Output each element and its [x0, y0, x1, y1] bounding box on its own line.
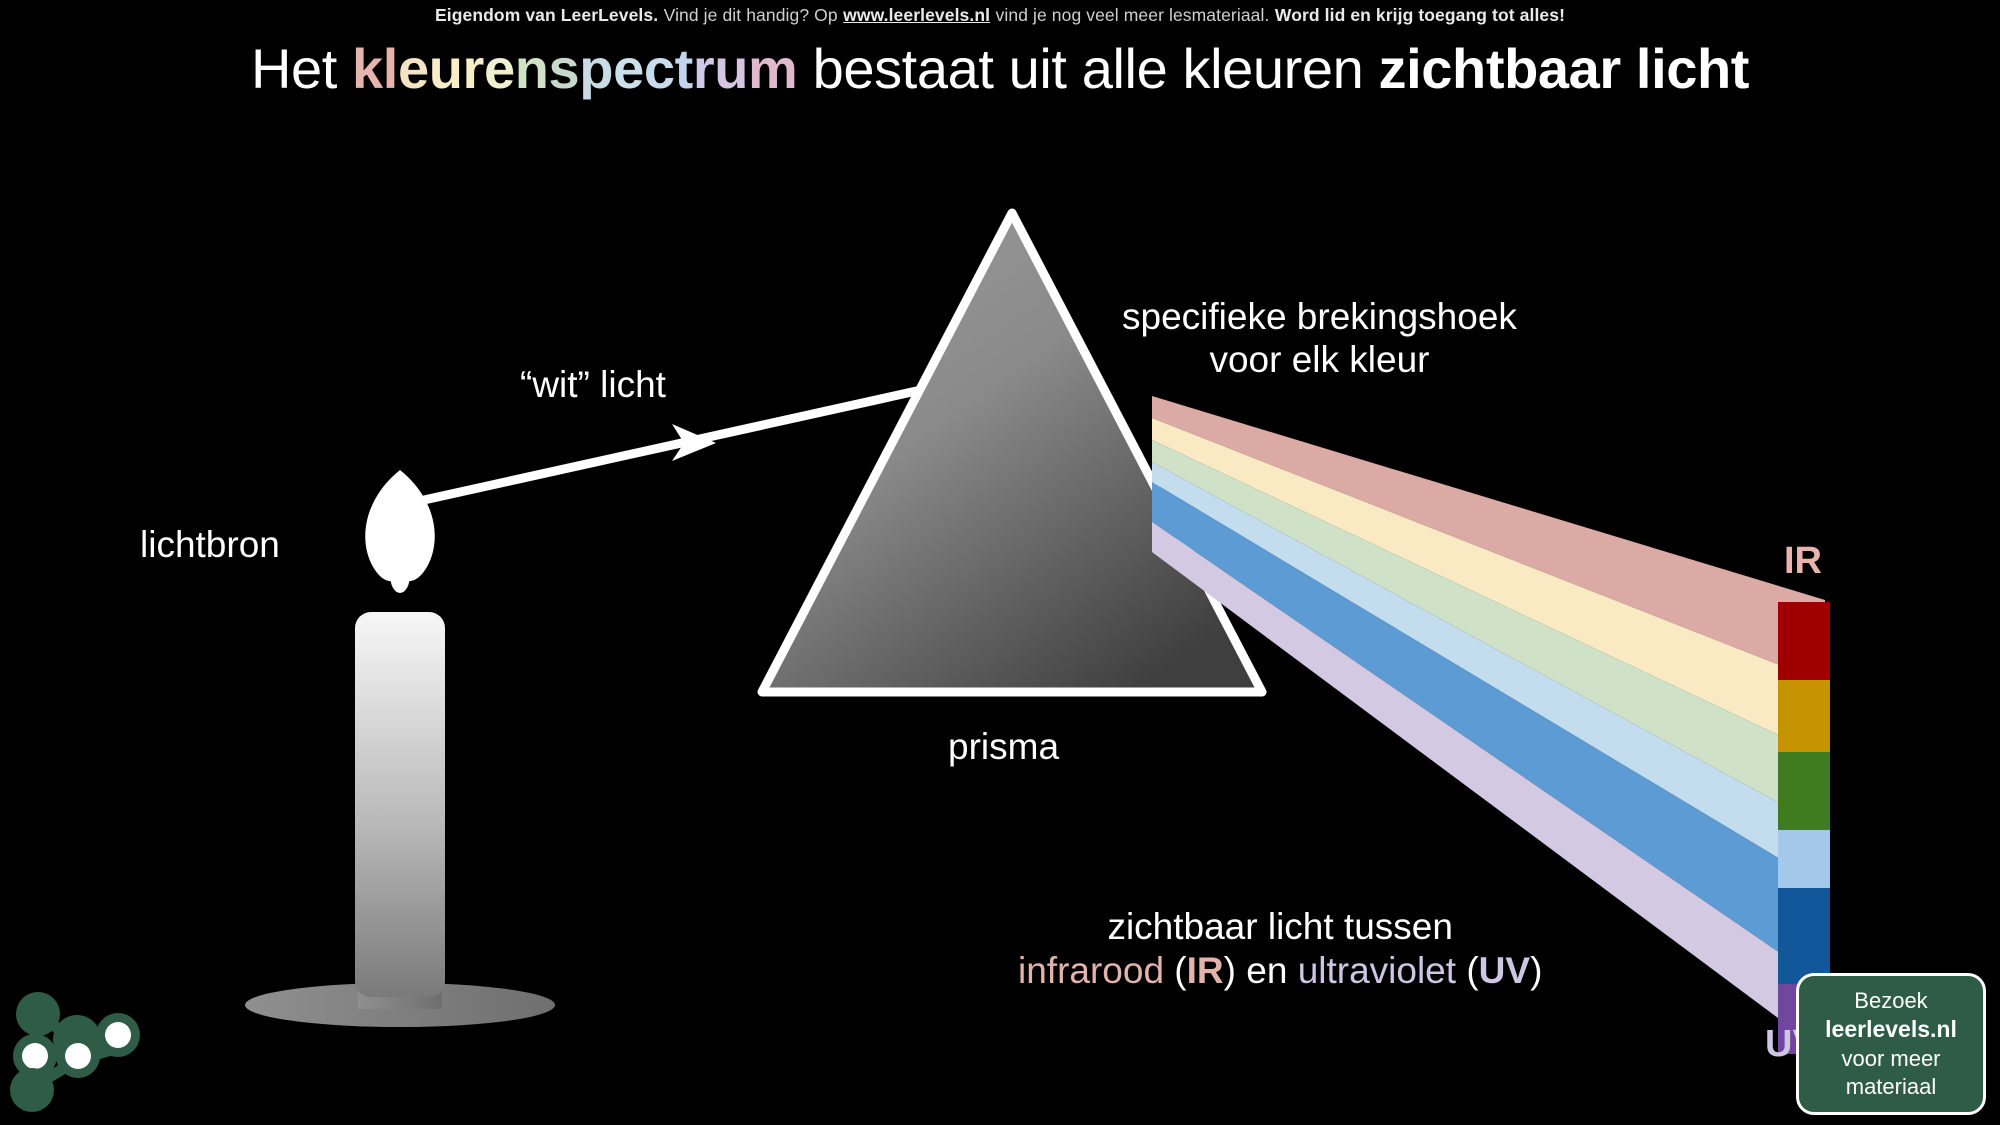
- white-ray-line: [424, 388, 930, 500]
- zichtbaar-en: en: [1246, 950, 1287, 991]
- bar-red: [1778, 602, 1830, 680]
- label-lichtbron: lichtbron: [140, 524, 280, 566]
- zichtbaar-infrarood: infrarood: [1018, 950, 1164, 991]
- label-wit-licht: “wit” licht: [520, 364, 666, 406]
- bar-orange: [1778, 680, 1830, 752]
- zichtbaar-ultraviolet: ultraviolet: [1298, 950, 1456, 991]
- badge-line-1: Bezoek: [1854, 987, 1927, 1015]
- logo-node-1: [16, 992, 60, 1036]
- label-ir: IR: [1784, 540, 1822, 583]
- label-prisma: prisma: [948, 726, 1059, 768]
- logo-node-6: [10, 1068, 54, 1112]
- badge-line-3: voor meer: [1841, 1045, 1940, 1073]
- bar-green: [1778, 752, 1830, 830]
- label-brekingshoek: specifieke brekingshoek voor elk kleur: [1122, 295, 1517, 382]
- visit-badge[interactable]: Bezoek leerlevels.nl voor meer materiaal: [1796, 973, 1986, 1115]
- slide-canvas: Eigendom van LeerLevels.Vind je dit hand…: [0, 0, 2000, 1125]
- bar-lightblue: [1778, 830, 1830, 888]
- leerlevels-logo[interactable]: [10, 992, 140, 1112]
- badge-line-4: materiaal: [1846, 1073, 1936, 1101]
- candle-lightsource: [245, 470, 555, 1027]
- badge-line-2: leerlevels.nl: [1825, 1015, 1957, 1044]
- candle-body: [355, 612, 445, 997]
- prism-diagram: [0, 0, 2000, 1125]
- white-light-ray: [424, 388, 930, 500]
- label-zichtbaar-licht: zichtbaar licht tussen infrarood (IR) en…: [1018, 905, 1542, 994]
- bar-blue: [1778, 888, 1830, 984]
- zichtbaar-line-2: infrarood (IR) en ultraviolet (UV): [1018, 949, 1542, 993]
- logo-node-5-dot: [105, 1022, 131, 1048]
- logo-node-4-dot: [65, 1043, 91, 1069]
- zichtbaar-ir-abbrev: IR: [1187, 950, 1224, 991]
- zichtbaar-line-1: zichtbaar licht tussen: [1018, 905, 1542, 949]
- candle-wick-core: [390, 557, 410, 593]
- logo-node-3-dot: [22, 1043, 48, 1069]
- zichtbaar-uv-abbrev: UV: [1479, 950, 1530, 991]
